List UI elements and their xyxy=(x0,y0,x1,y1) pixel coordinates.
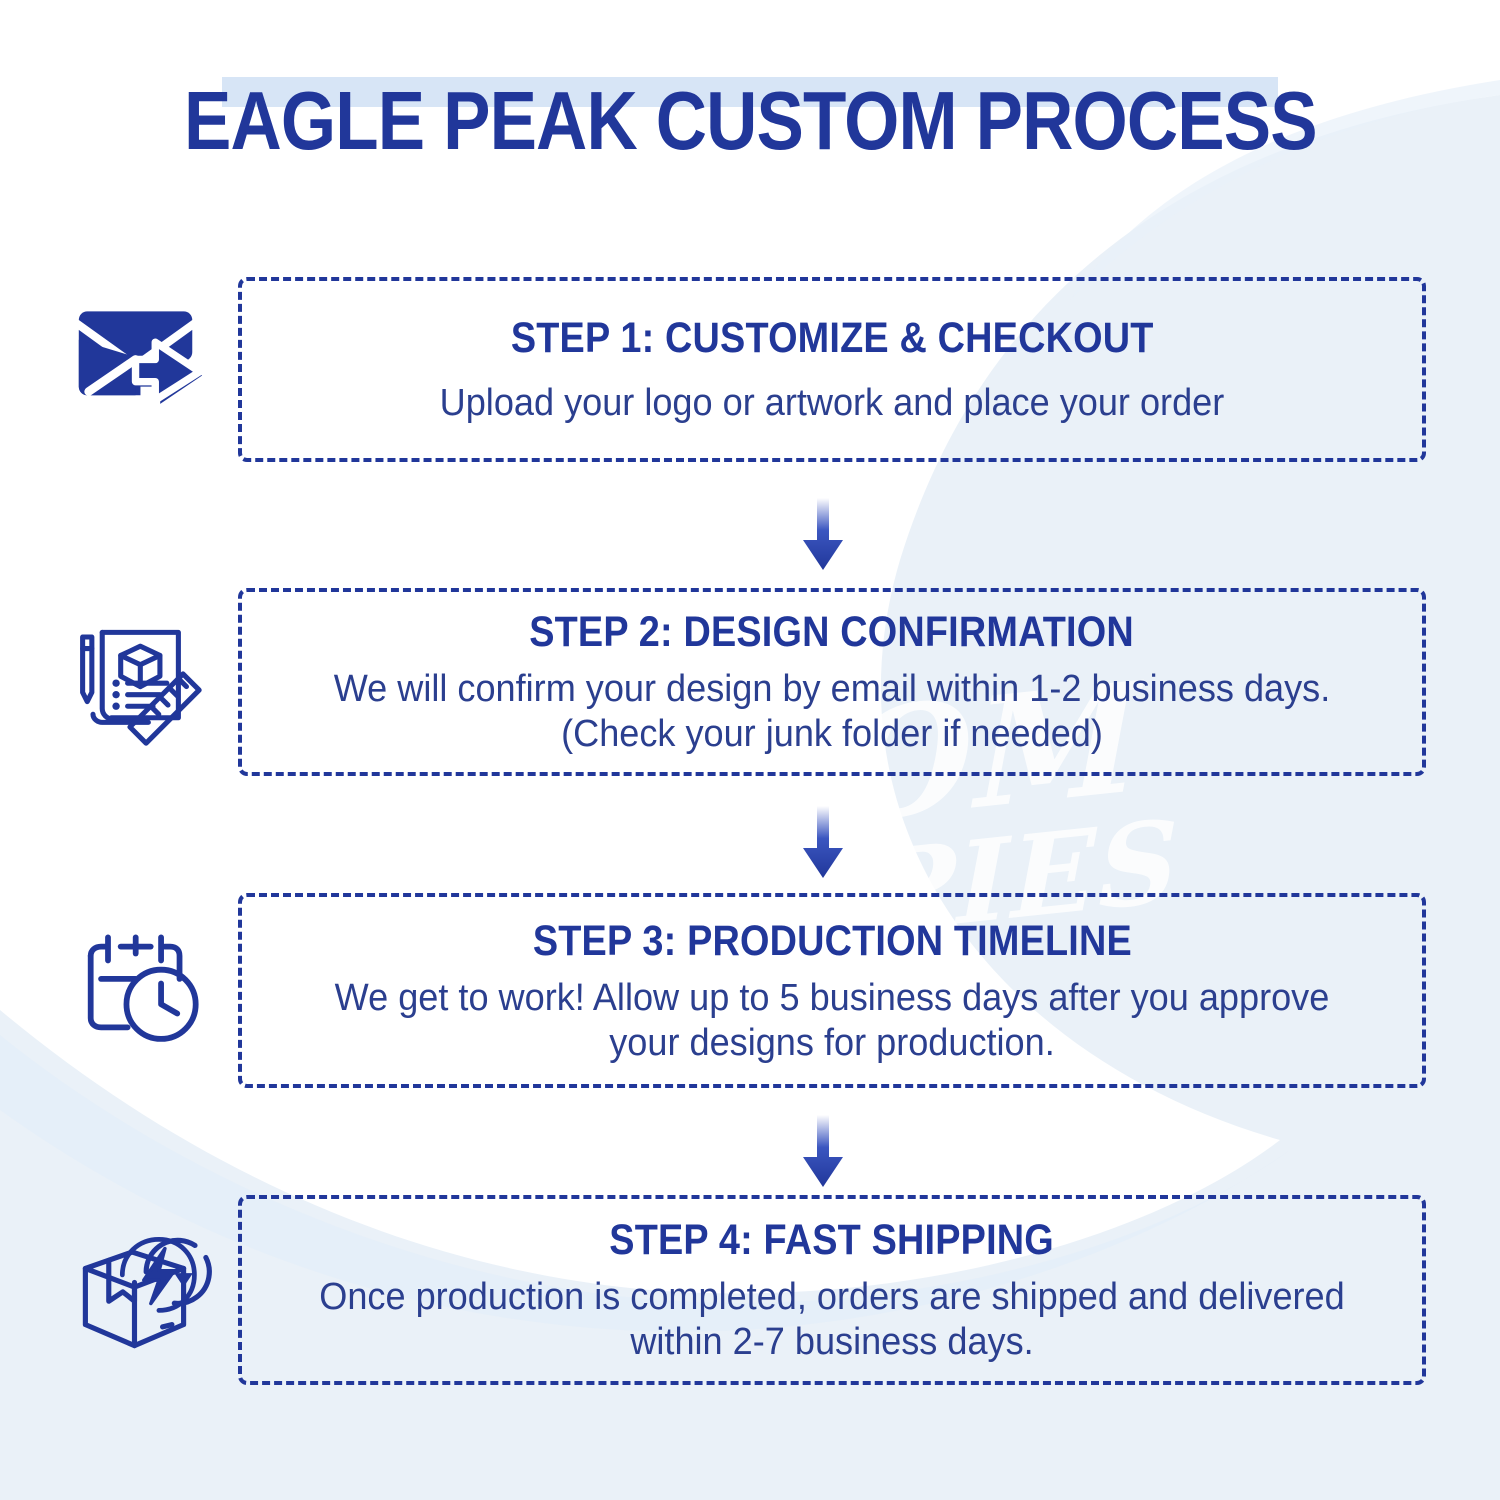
down-arrow-icon-1 xyxy=(801,498,845,572)
step-box-4[interactable]: STEP 4: FAST SHIPPING Once production is… xyxy=(238,1195,1426,1385)
step-2-heading: STEP 2: DESIGN CONFIRMATION xyxy=(530,607,1135,657)
step-box-1[interactable]: STEP 1: CUSTOMIZE & CHECKOUT Upload your… xyxy=(238,277,1426,462)
process-flow: STEP 1: CUSTOMIZE & CHECKOUT Upload your… xyxy=(0,0,1500,1500)
step-4-description: Once production is completed, orders are… xyxy=(310,1275,1355,1365)
step-2-description: We will confirm your design by email wit… xyxy=(310,667,1355,757)
step-4-heading: STEP 4: FAST SHIPPING xyxy=(610,1215,1055,1265)
down-arrow-icon-3 xyxy=(801,1115,845,1189)
down-arrow-icon-2 xyxy=(801,806,845,880)
step-1-heading: STEP 1: CUSTOMIZE & CHECKOUT xyxy=(511,313,1154,363)
step-1-description: Upload your logo or artwork and place yo… xyxy=(440,381,1225,426)
design-document-ruler-pen-icon xyxy=(58,602,218,762)
step-box-2[interactable]: STEP 2: DESIGN CONFIRMATION We will conf… xyxy=(238,588,1426,776)
step-box-3[interactable]: STEP 3: PRODUCTION TIMELINE We get to wo… xyxy=(238,893,1426,1088)
box-lightning-fast-shipping-icon xyxy=(58,1213,218,1373)
calendar-clock-icon xyxy=(58,907,218,1067)
step-3-description: We get to work! Allow up to 5 business d… xyxy=(310,976,1355,1066)
step-3-heading: STEP 3: PRODUCTION TIMELINE xyxy=(532,916,1131,966)
envelope-send-icon xyxy=(58,277,218,437)
